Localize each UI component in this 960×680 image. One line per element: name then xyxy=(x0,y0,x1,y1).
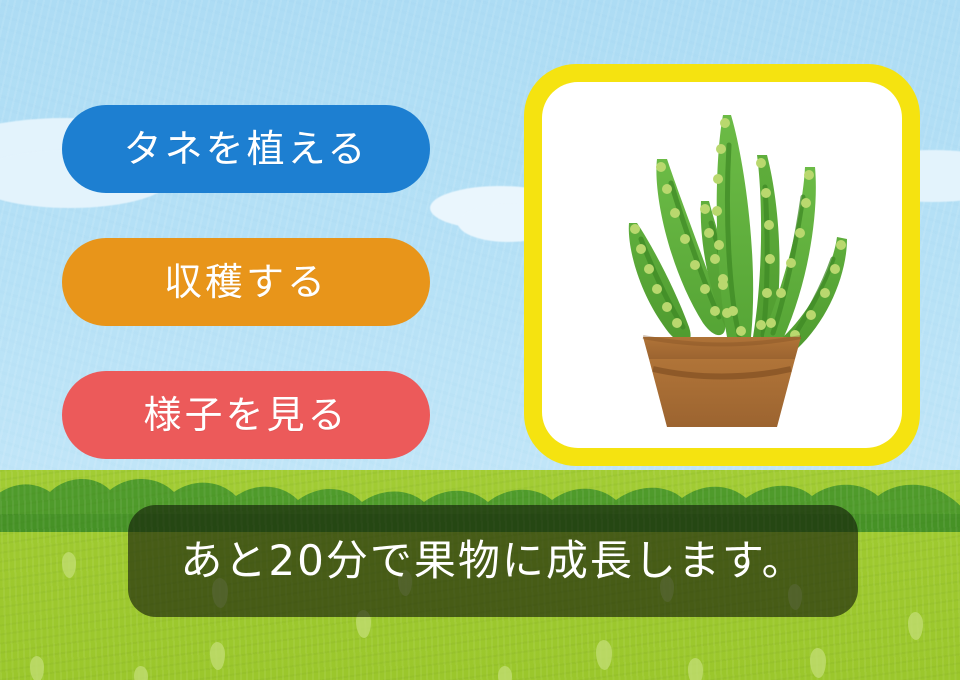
grass-fleck xyxy=(134,666,148,680)
plant-seed-button[interactable]: タネを植える xyxy=(62,105,430,193)
plant-seed-button-label: タネを植える xyxy=(124,130,369,168)
grass-fleck xyxy=(596,640,612,670)
plant-image-card-inner xyxy=(542,82,902,448)
action-button-stack: タネを植える 収穫する 様子を見る xyxy=(62,105,430,459)
grass-fleck xyxy=(30,656,44,680)
status-panel: あと20分で果物に成長します。 xyxy=(128,505,858,617)
game-screen: タネを植える 収穫する 様子を見る xyxy=(0,0,960,680)
plant-image-card[interactable] xyxy=(524,64,920,466)
status-message: あと20分で果物に成長します。 xyxy=(180,540,805,582)
potted-aloe-plant-icon xyxy=(557,97,887,433)
harvest-button-label: 収穫する xyxy=(164,263,328,301)
grass-fleck xyxy=(810,648,826,678)
harvest-button[interactable]: 収穫する xyxy=(62,238,430,326)
grass-fleck xyxy=(908,612,923,640)
grass-fleck xyxy=(688,658,703,680)
check-state-button-label: 様子を見る xyxy=(143,396,348,434)
grass-fleck xyxy=(62,552,76,578)
check-state-button[interactable]: 様子を見る xyxy=(62,371,430,459)
grass-fleck xyxy=(498,666,512,680)
grass-fleck xyxy=(210,642,225,670)
